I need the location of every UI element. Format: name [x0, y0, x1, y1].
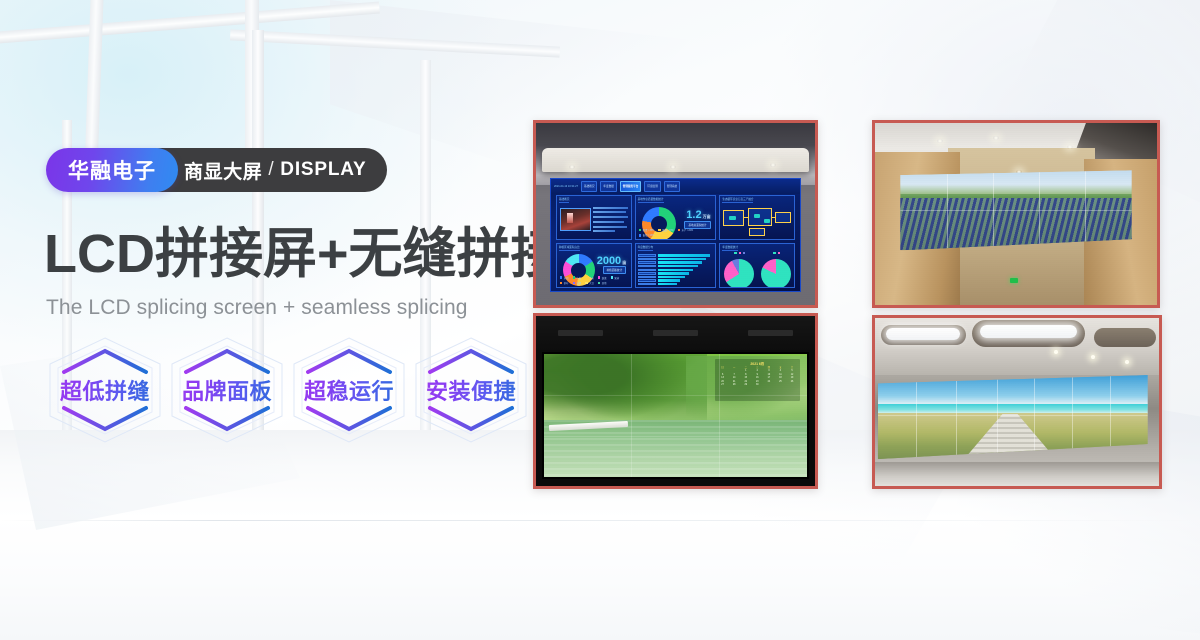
category-separator: /	[268, 159, 274, 181]
category-label-cn: 商显大屏	[184, 157, 262, 184]
photo-willow-pond-video-wall[interactable]: 2021 6月 日 一 二 三 四 五 六 12	[533, 313, 818, 489]
brand-badge: 华融电子	[46, 148, 178, 192]
category-label-en: DISPLAY	[280, 159, 366, 181]
photo-beach-boardwalk-video-wall[interactable]	[872, 315, 1162, 489]
product-photo-grid: 2021-04-13 10:31:27 基础概况 年度数据 管理服务平台 环境监…	[0, 0, 1200, 640]
banner-stage: 华融电子 商显大屏 / DISPLAY LCD拼接屏+无缝拼接 The LCD …	[0, 0, 1200, 640]
photo-dashboard-video-wall[interactable]: 2021-04-13 10:31:27 基础概况 年度数据 管理服务平台 环境监…	[533, 120, 818, 308]
brand-badge-row: 华融电子 商显大屏 / DISPLAY	[46, 148, 387, 192]
photo-solar-farm-video-wall[interactable]	[872, 120, 1160, 308]
